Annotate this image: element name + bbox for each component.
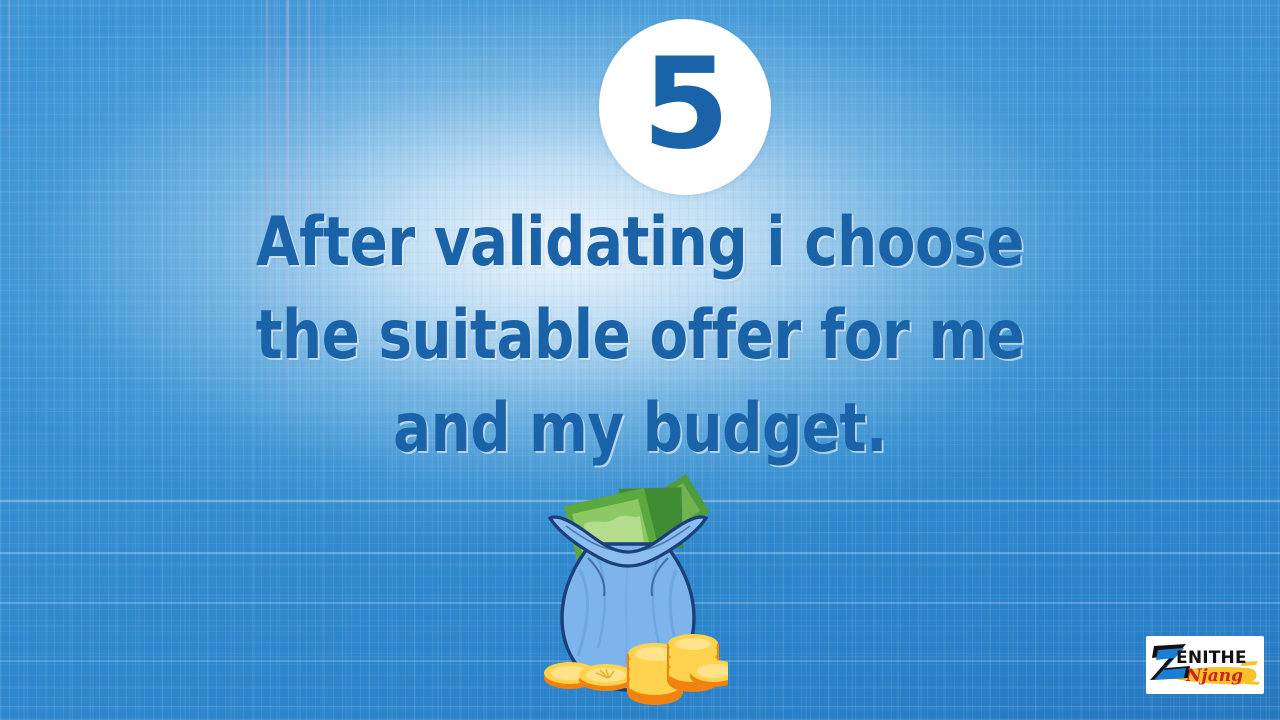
- headline-line-3: and my budget.: [51, 382, 1229, 475]
- slide-canvas: 5 After validating i choose the suitable…: [0, 0, 1280, 720]
- step-number-badge: 5: [599, 19, 771, 195]
- logo-script-label: Njang: [1185, 666, 1243, 686]
- headline-line-2: the suitable offer for me: [51, 289, 1229, 382]
- logo-wordmark-label: ENITHE: [1176, 648, 1247, 668]
- step-number-label: 5: [642, 41, 728, 167]
- headline-line-1: After validating i choose: [51, 196, 1229, 289]
- coin-flat-right: [690, 660, 728, 687]
- money-bag-illustration: [528, 466, 728, 720]
- coin-flat-left-2: [579, 664, 633, 691]
- headline-text: After validating i choose the suitable o…: [0, 196, 1280, 475]
- brand-logo: ENITHE Njang: [1146, 636, 1264, 694]
